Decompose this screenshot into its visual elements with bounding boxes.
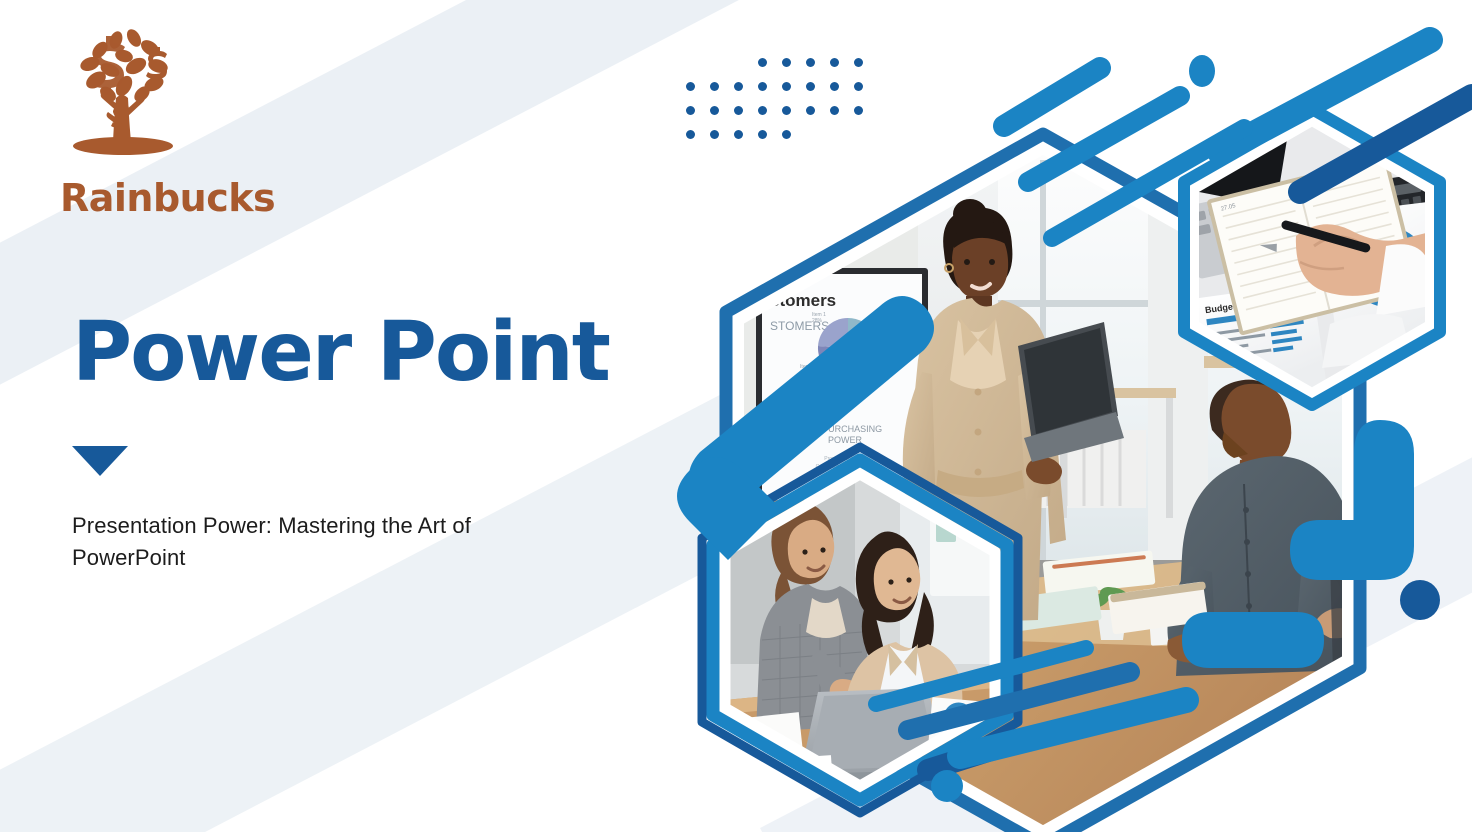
dot-grid-dot (854, 82, 863, 91)
dot-grid-dot (758, 58, 767, 67)
dot-grid-dot (758, 106, 767, 115)
dot-grid-dot (854, 58, 863, 67)
dot-grid-dot (710, 130, 719, 139)
dot-grid-dot (782, 82, 791, 91)
accent-bar-hex-top-1 (1004, 68, 1100, 126)
accent-bar-right-2 (1182, 612, 1324, 668)
dot-grid-dot (710, 82, 719, 91)
dot-grid-dot (830, 82, 839, 91)
dot-grid-dot (758, 82, 767, 91)
money-tree-icon (64, 22, 182, 177)
presentation-slide: stomers STOMERS Item 128% Item 221% Item… (0, 0, 1472, 832)
dot-grid-dot (854, 106, 863, 115)
dot-grid-dot (710, 106, 719, 115)
dot-grid-dot (782, 130, 791, 139)
dot-grid-dot (830, 58, 839, 67)
dot-grid-dot (734, 106, 743, 115)
dot-grid-dot (686, 82, 695, 91)
dot-grid-dot (782, 106, 791, 115)
page-subtitle: Presentation Power: Mastering the Art of… (72, 510, 572, 574)
dot-grid-dot (686, 106, 695, 115)
triangle-down-icon (72, 446, 128, 476)
page-title: Power Point (72, 312, 609, 394)
dot-grid-dot (758, 130, 767, 139)
accent-dot-top (1189, 55, 1215, 87)
accent-bar-top-right-2 (1300, 96, 1472, 192)
dot-grid-dot (806, 106, 815, 115)
dot-grid-dot (686, 130, 695, 139)
dot-grid-dot (734, 130, 743, 139)
accent-circle-bottom (931, 770, 963, 802)
brand-name: Rainbucks (60, 179, 320, 217)
dot-grid-dot (806, 82, 815, 91)
dot-grid-dot (734, 82, 743, 91)
accent-shape-right-1 (1290, 420, 1414, 580)
dot-grid-dot (806, 58, 815, 67)
dot-grid-dot (782, 58, 791, 67)
accent-circle-right (1400, 580, 1440, 620)
dot-grid-dot (830, 106, 839, 115)
brand-logo[interactable]: Rainbucks (60, 22, 320, 217)
